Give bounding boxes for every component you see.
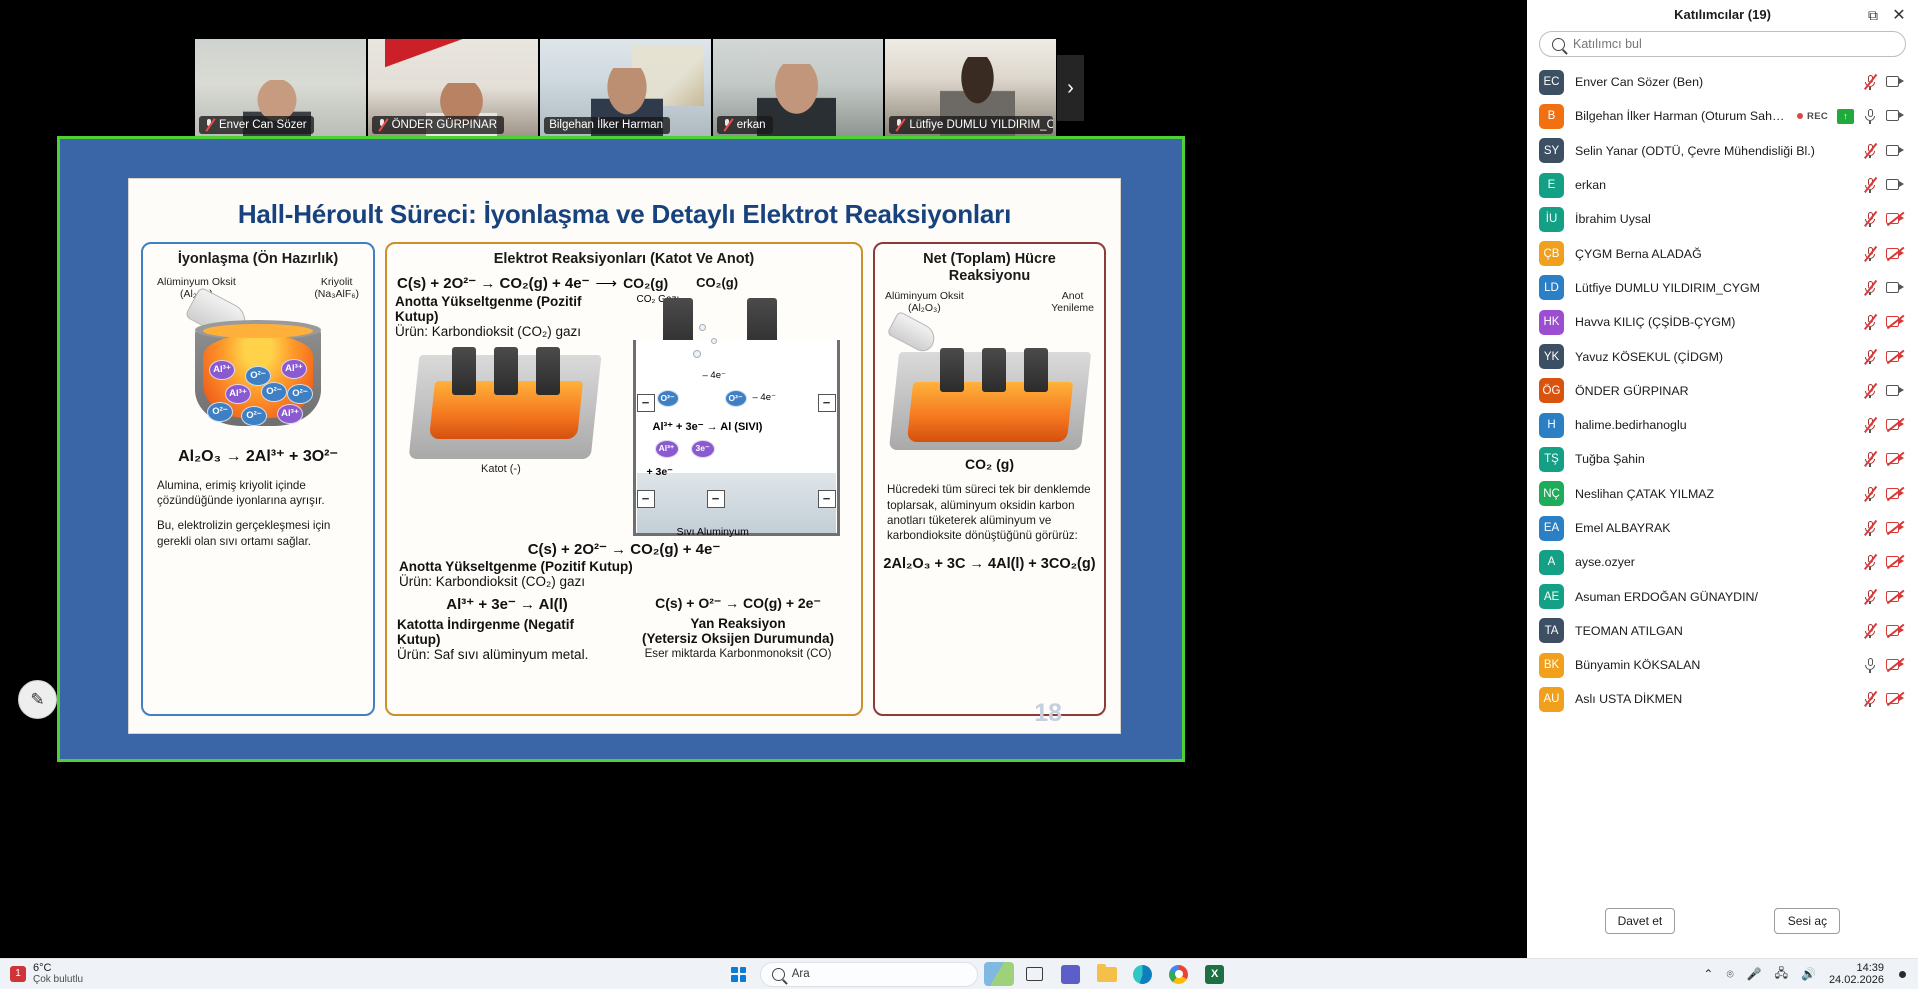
participant-row[interactable]: A ayse.ozyer [1537, 545, 1908, 579]
avatar: SY [1539, 138, 1564, 163]
video-filmstrip: Enver Can Sözer ÖNDER GÜRPINAR Bilgehan … [195, 39, 1056, 137]
video-tile[interactable]: ÖNDER GÜRPINAR [368, 39, 539, 137]
video-tile-nameplate: ÖNDER GÜRPINAR [372, 116, 504, 134]
panel2-side-line-2: (Yetersiz Oksijen Durumunda) [625, 631, 851, 646]
ion-chip: Al³⁺ [281, 359, 307, 379]
participant-name: Bilgehan İlker Harman (Oturum Sahibi) [1575, 109, 1786, 123]
minus-terminal: − [637, 490, 655, 508]
camera-off-icon[interactable] [1886, 453, 1904, 465]
mic-muted-icon[interactable] [1863, 520, 1877, 536]
participant-status-icons [1863, 657, 1904, 673]
panel2-eq-side: C(s) + O²⁻ → CO(g) + 2e⁻ [625, 595, 851, 612]
weather-temperature: 6°C [33, 963, 83, 975]
taskbar-apps: Ara X [250, 961, 1703, 987]
panel1-text-2: Bu, elektrolizin gerçekleşmesi için gere… [143, 508, 373, 549]
chrome-icon[interactable] [1164, 961, 1194, 987]
mic-on-icon[interactable] [1863, 108, 1877, 124]
participant-row[interactable]: AE Asuman ERDOĞAN GÜNAYDIN/ [1537, 579, 1908, 613]
start-icon[interactable] [724, 961, 754, 987]
mic-muted-icon[interactable] [1863, 623, 1877, 639]
panel2-cathode-line-2: Ürün: Saf sıvı alüminyum metal. [397, 647, 617, 662]
camera-on-icon[interactable] [1886, 145, 1904, 157]
avatar: BK [1539, 653, 1564, 678]
participant-status-icons [1863, 280, 1904, 296]
participants-header: Katılımcılar (19) ⧉ ✕ [1527, 0, 1918, 29]
anode-block [1024, 348, 1048, 392]
panel3-oxide-label: Alüminyum Oksit (Al₂O₃) [885, 290, 964, 314]
ion-chip: Al³⁺ [225, 384, 251, 404]
avatar: HK [1539, 310, 1564, 335]
filmstrip-next-button[interactable]: › [1057, 55, 1084, 121]
search-icon [1552, 38, 1565, 51]
avatar: ÖG [1539, 378, 1564, 403]
participant-name: Lütfiye DUMLU YILDIRIM_CYGM [1575, 281, 1852, 295]
camera-on-icon[interactable] [1886, 282, 1904, 294]
participant-status-icons [1863, 520, 1904, 536]
ion-chip: O²⁻ [241, 406, 267, 426]
camera-off-icon[interactable] [1886, 213, 1904, 225]
pouring-jug-icon [886, 311, 939, 356]
participants-list[interactable]: EC Enver Can Sözer (Ben) B Bilgehan İlke… [1527, 65, 1918, 884]
camera-on-icon[interactable] [1886, 76, 1904, 88]
participant-name: Tuğba Şahin [1575, 452, 1852, 466]
camera-off-icon[interactable] [1886, 248, 1904, 260]
liquid-al-label: Sıvı Aluminyum [677, 526, 749, 538]
ion-chip: Al³⁺ [209, 360, 235, 380]
participant-row[interactable]: LD Lütfiye DUMLU YILDIRIM_CYGM [1537, 271, 1908, 305]
panel3-equation: 2Al₂O₃ + 3C → 4Al(l) + 3CO₂(g) [875, 556, 1104, 572]
participant-row[interactable]: TŞ Tuğba Şahin [1537, 442, 1908, 476]
network-icon[interactable]: 🖧 [1775, 964, 1788, 985]
mic-muted-icon[interactable] [1863, 349, 1877, 365]
anode-block [494, 347, 518, 395]
notifications-icon[interactable] [1899, 971, 1906, 978]
camera-off-icon[interactable] [1886, 659, 1904, 671]
mic-muted-icon[interactable] [1863, 211, 1877, 227]
panel3-heading: Net (Toplam) Hücre Reaksiyonu [875, 244, 1104, 286]
camera-on-icon[interactable] [1886, 179, 1904, 191]
al-reduction-label: Al³⁺ + 3e⁻ → Al (SIVI) [653, 420, 763, 433]
avatar: İU [1539, 207, 1564, 232]
windows-taskbar: 1 6°C Çok bulutlu Ara X ⌃ ⌾ [0, 958, 1918, 989]
slide-panel-ionization: İyonlaşma (Ön Hazırlık) Alüminyum Oksit … [141, 242, 375, 716]
panel2-co2-right: CO₂(g) [696, 275, 738, 290]
panel3-anode-label: Anot Yenileme [1051, 290, 1094, 314]
panel1-equation: Al₂O₃ → 2Al³⁺ + 3O²⁻ [143, 446, 373, 466]
avatar: ÇB [1539, 241, 1564, 266]
anode-block [536, 347, 560, 395]
slide-title: Hall-Héroult Süreci: İyonlaşma ve Detayl… [129, 199, 1120, 230]
mic-muted-icon[interactable] [1863, 451, 1877, 467]
mic-muted-icon[interactable] [1863, 74, 1877, 90]
panel2-eq-top: C(s) + 2O²⁻ → CO₂(g) + 4e⁻ [397, 274, 590, 292]
notification-count-badge: 1 [10, 966, 26, 982]
avatar: AE [1539, 584, 1564, 609]
participant-status-icons [1863, 623, 1904, 639]
participant-status-icons [1863, 451, 1904, 467]
participant-row[interactable]: ÇB ÇYGM Berna ALADAĞ [1537, 236, 1908, 270]
participant-name: halime.bedirhanoglu [1575, 418, 1852, 432]
avatar: EC [1539, 70, 1564, 95]
panel2-anode-line-1: Anotta Yükseltgenme (Pozitif Kutup) [395, 294, 615, 324]
video-tile[interactable]: Lütfiye DUMLU YILDIRIM_CYGM [885, 39, 1056, 137]
panel1-cryolite-label: Kriyolit (Na₃AlF₆) [314, 276, 359, 300]
participants-footer: Davet et Sesi aç [1527, 884, 1918, 958]
katot-label: Katot (-) [395, 463, 615, 475]
taskbar-search-placeholder: Ara [792, 968, 810, 980]
ion-chip: 3e⁻ [691, 440, 715, 458]
video-tile-nameplate: Lütfiye DUMLU YILDIRIM_CYGM [889, 116, 1053, 134]
mic-muted-icon [722, 118, 733, 131]
participant-row[interactable]: NÇ Neslihan ÇATAK YILMAZ [1537, 477, 1908, 511]
panel2-side-line-1: Yan Reaksiyon [625, 616, 851, 631]
ion-chip: O²⁻ [725, 390, 747, 407]
minus-terminal: − [818, 394, 836, 412]
ion-chip: Al³⁺ [655, 440, 679, 458]
camera-off-icon[interactable] [1886, 625, 1904, 637]
participant-name: Lütfiye DUMLU YILDIRIM_CYGM [909, 119, 1053, 131]
file-explorer-icon[interactable] [1092, 961, 1122, 987]
participant-name: erkan [1575, 178, 1852, 192]
participant-status-icons [1863, 589, 1904, 605]
cell-diagram: CO₂ Gazı + + [629, 294, 844, 544]
panel2-anode-line-2: Ürün: Karbondioksit (CO₂) gazı [395, 324, 615, 339]
participant-name: Neslihan ÇATAK YILMAZ [1575, 487, 1852, 501]
mic-muted-icon[interactable] [1863, 143, 1877, 159]
video-tile-nameplate: erkan [717, 116, 773, 134]
weather-widget[interactable]: 1 6°C Çok bulutlu [0, 963, 250, 985]
unmute-button[interactable]: Sesi aç [1774, 908, 1840, 934]
participant-status-icons: REC ↑ [1797, 108, 1904, 124]
participant-row[interactable]: AU Aslı USTA DİKMEN [1537, 682, 1908, 716]
chevron-right-icon: › [1067, 77, 1074, 100]
mic-muted-icon[interactable] [1863, 280, 1877, 296]
mic-muted-icon[interactable] [1863, 177, 1877, 193]
camera-on-icon[interactable] [1886, 385, 1904, 397]
recording-badge: REC [1797, 111, 1828, 122]
clock-date: 24.02.2026 [1829, 974, 1884, 986]
participant-row[interactable]: E erkan [1537, 168, 1908, 202]
slide-panels: İyonlaşma (Ön Hazırlık) Alüminyum Oksit … [129, 230, 1120, 716]
slide-panel-electrode-reactions: Elektrot Reaksiyonları (Katot Ve Anot) C… [385, 242, 863, 716]
participant-status-icons [1863, 691, 1904, 707]
minus-terminal: − [707, 490, 725, 508]
panel2-anode2-line-2: Ürün: Karbondioksit (CO₂) gazı [399, 574, 633, 589]
participant-row[interactable]: TA TEOMAN ATILGAN [1537, 614, 1908, 648]
popout-icon[interactable]: ⧉ [1864, 6, 1882, 24]
minus-terminal: − [818, 490, 836, 508]
participant-name: Enver Can Sözer [219, 119, 307, 131]
avatar: B [1539, 104, 1564, 129]
camera-off-icon[interactable] [1886, 351, 1904, 363]
mic-on-icon[interactable] [1863, 657, 1877, 673]
avatar: YK [1539, 344, 1564, 369]
participant-name: Havva KILIÇ (ÇŞİDB-ÇYGM) [1575, 315, 1852, 329]
camera-off-icon[interactable] [1886, 693, 1904, 705]
participant-status-icons [1863, 349, 1904, 365]
annotate-pencil-button[interactable]: ✎ [18, 680, 57, 719]
mic-muted-icon[interactable] [1863, 589, 1877, 605]
participant-row[interactable]: SY Selin Yanar (ODTÜ, Çevre Mühendisliği… [1537, 134, 1908, 168]
participant-name: TEOMAN ATILGAN [1575, 624, 1852, 638]
zoom-meeting-stage: Enver Can Sözer ÖNDER GÜRPINAR Bilgehan … [0, 0, 1527, 958]
slide-panel-net-reaction: Net (Toplam) Hücre Reaksiyonu Alüminyum … [873, 242, 1106, 716]
participant-status-icons [1863, 246, 1904, 262]
panel1-text-1: Alumina, erimiş kriyolit içinde çözündüğ… [143, 466, 373, 509]
panel2-cathode-line-1: Katotta İndirgenme (Negatif Kutup) [397, 617, 617, 647]
avatar: NÇ [1539, 481, 1564, 506]
invite-button[interactable]: Davet et [1605, 908, 1676, 934]
avatar: EA [1539, 516, 1564, 541]
search-icon [772, 968, 785, 981]
participant-status-icons [1863, 74, 1904, 90]
camera-on-icon[interactable] [1886, 110, 1904, 122]
ion-chip: O²⁻ [657, 390, 679, 407]
anode-block [940, 348, 964, 392]
mic-muted-icon[interactable] [1863, 314, 1877, 330]
participant-row[interactable]: YK Yavuz KÖSEKUL (ÇİDGM) [1537, 339, 1908, 373]
electron-label: – 4e⁻ [703, 370, 727, 381]
participant-row[interactable]: BK Bünyamin KÖKSALAN [1537, 648, 1908, 682]
avatar: AU [1539, 687, 1564, 712]
panel2-eq-cathode: Al³⁺ + 3e⁻ → Al(l) [397, 595, 617, 613]
participant-row[interactable]: HK Havva KILIÇ (ÇŞİDB-ÇYGM) [1537, 305, 1908, 339]
mic-muted-icon [204, 118, 215, 131]
minus-terminal: − [637, 394, 655, 412]
avatar: TA [1539, 618, 1564, 643]
participant-row[interactable]: H halime.bedirhanoglu [1537, 408, 1908, 442]
microphone-tray-icon[interactable]: 🎤 [1747, 967, 1762, 981]
video-tile-active-speaker[interactable]: Bilgehan İlker Harman [540, 39, 711, 137]
volume-icon[interactable]: 🔊 [1801, 967, 1816, 981]
video-tile-nameplate: Bilgehan İlker Harman [544, 117, 670, 134]
participant-status-icons [1863, 383, 1904, 399]
participant-status-icons [1863, 211, 1904, 227]
participant-row[interactable]: EC Enver Can Sözer (Ben) [1537, 65, 1908, 99]
participant-name: ÖNDER GÜRPINAR [1575, 384, 1852, 398]
mic-muted-icon[interactable] [1863, 554, 1877, 570]
participant-name: Bünyamin KÖKSALAN [1575, 658, 1852, 672]
system-tray: ⌃ ⌾ 🎤 🖧 🔊 14:39 24.02.2026 [1703, 962, 1918, 987]
participant-name: ÇYGM Berna ALADAĞ [1575, 247, 1852, 261]
avatar: TŞ [1539, 447, 1564, 472]
camera-off-tray-icon[interactable]: ⌾ [1726, 967, 1733, 982]
camera-off-icon[interactable] [1886, 316, 1904, 328]
slide-page-number: 18 [1034, 699, 1062, 728]
search-input[interactable] [1573, 37, 1893, 51]
mic-muted-icon[interactable] [1863, 486, 1877, 502]
anode-block [452, 347, 476, 395]
video-tile[interactable]: erkan [713, 39, 884, 137]
participant-name: ayse.ozyer [1575, 555, 1852, 569]
participants-title: Katılımcılar (19) [1674, 7, 1771, 22]
ion-chip: Al³⁺ [277, 404, 303, 424]
electron-label: – 4e⁻ [753, 392, 777, 403]
participant-name: Yavuz KÖSEKUL (ÇİDGM) [1575, 350, 1852, 364]
net-cell-illustration [890, 324, 1090, 454]
participant-name: İbrahim Uysal [1575, 212, 1852, 226]
participant-status-icons [1863, 177, 1904, 193]
mic-muted-icon[interactable] [1863, 691, 1877, 707]
participant-name: Enver Can Sözer (Ben) [1575, 75, 1852, 89]
panel3-co2-label: CO₂ (g) [875, 456, 1104, 472]
mic-muted-icon[interactable] [1863, 383, 1877, 399]
mic-muted-icon[interactable] [1863, 417, 1877, 433]
participant-name: Emel ALBAYRAK [1575, 521, 1852, 535]
camera-off-icon[interactable] [1886, 488, 1904, 500]
electrolysis-cell-illustration [410, 341, 600, 461]
participants-panel: Katılımcılar (19) ⧉ ✕ EC Enver Can Sözer… [1527, 0, 1918, 958]
edge-icon[interactable] [1128, 961, 1158, 987]
participant-status-icons [1863, 554, 1904, 570]
anode-block [982, 348, 1006, 392]
participant-status-icons [1863, 486, 1904, 502]
participant-status-icons [1863, 417, 1904, 433]
participant-name: Bilgehan İlker Harman [549, 119, 663, 131]
participant-name: ÖNDER GÜRPINAR [392, 119, 497, 131]
participant-status-icons [1863, 143, 1904, 159]
avatar: H [1539, 413, 1564, 438]
avatar: E [1539, 173, 1564, 198]
mic-muted-icon[interactable] [1863, 246, 1877, 262]
task-view-icon[interactable] [1020, 961, 1050, 987]
widgets-icon[interactable] [984, 961, 1014, 987]
camera-off-icon[interactable] [1886, 556, 1904, 568]
panel3-text: Hücredeki tüm süreci tek bir denklemde t… [875, 472, 1104, 543]
ion-chip: O²⁻ [287, 384, 313, 404]
camera-off-icon[interactable] [1886, 522, 1904, 534]
participant-row[interactable]: ÖG ÖNDER GÜRPINAR [1537, 374, 1908, 408]
panel2-anode2-line-1: Anotta Yükseltgenme (Pozitif Kutup) [399, 559, 633, 574]
weather-description: Çok bulutlu [33, 975, 83, 986]
camera-off-icon[interactable] [1886, 591, 1904, 603]
avatar: A [1539, 550, 1564, 575]
ion-chip: O²⁻ [207, 402, 233, 422]
close-icon[interactable]: ✕ [1890, 6, 1908, 24]
video-tile-nameplate: Enver Can Sözer [199, 116, 314, 134]
panel2-eq-top-product: CO₂(g) [623, 275, 668, 291]
rec-dot-icon [1797, 113, 1803, 119]
panel1-heading: İyonlaşma (Ön Hazırlık) [143, 244, 373, 270]
screen-root: Enver Can Sözer ÖNDER GÜRPINAR Bilgehan … [0, 0, 1918, 989]
avatar: LD [1539, 275, 1564, 300]
taskbar-search[interactable]: Ara [760, 962, 978, 987]
panel2-heading: Elektrot Reaksiyonları (Katot Ve Anot) [387, 244, 861, 270]
chevron-up-icon[interactable]: ⌃ [1703, 967, 1713, 981]
participant-row[interactable]: İU İbrahim Uysal [1537, 202, 1908, 236]
participant-name: Asuman ERDOĞAN GÜNAYDIN/ [1575, 590, 1852, 604]
panel2-side-line-3: Eser miktarda Karbonmonoksit (CO) [625, 646, 851, 661]
mic-muted-icon [377, 118, 388, 131]
search-box[interactable] [1539, 31, 1906, 57]
participant-row[interactable]: B Bilgehan İlker Harman (Oturum Sahibi) … [1537, 99, 1908, 133]
participant-name: Aslı USTA DİKMEN [1575, 692, 1852, 706]
shared-screen-area: Hall-Héroult Süreci: İyonlaşma ve Detayl… [57, 136, 1185, 762]
video-tile[interactable]: Enver Can Sözer [195, 39, 366, 137]
participant-name: erkan [737, 119, 766, 131]
excel-icon[interactable]: X [1200, 961, 1230, 987]
plus-3e-label: + 3e⁻ [647, 466, 673, 478]
participant-row[interactable]: EA Emel ALBAYRAK [1537, 511, 1908, 545]
teams-icon[interactable] [1056, 961, 1086, 987]
clock-time: 14:39 [1829, 962, 1884, 974]
camera-off-icon[interactable] [1886, 419, 1904, 431]
presentation-slide: Hall-Héroult Süreci: İyonlaşma ve Detayl… [128, 178, 1121, 734]
participant-status-icons [1863, 314, 1904, 330]
participants-search-wrap [1527, 29, 1918, 65]
participant-name: Selin Yanar (ODTÜ, Çevre Mühendisliği Bl… [1575, 144, 1852, 158]
crucible-illustration: Al³⁺ O²⁻ Al³⁺ Al³⁺ O²⁻ O²⁻ O²⁻ O²⁻ Al³⁺ [183, 304, 333, 432]
mic-muted-icon [894, 118, 905, 131]
clock[interactable]: 14:39 24.02.2026 [1829, 962, 1886, 987]
host-badge-icon: ↑ [1837, 109, 1854, 124]
ion-chip: O²⁻ [261, 382, 287, 402]
arrow-icon: ⟶ [596, 274, 618, 292]
